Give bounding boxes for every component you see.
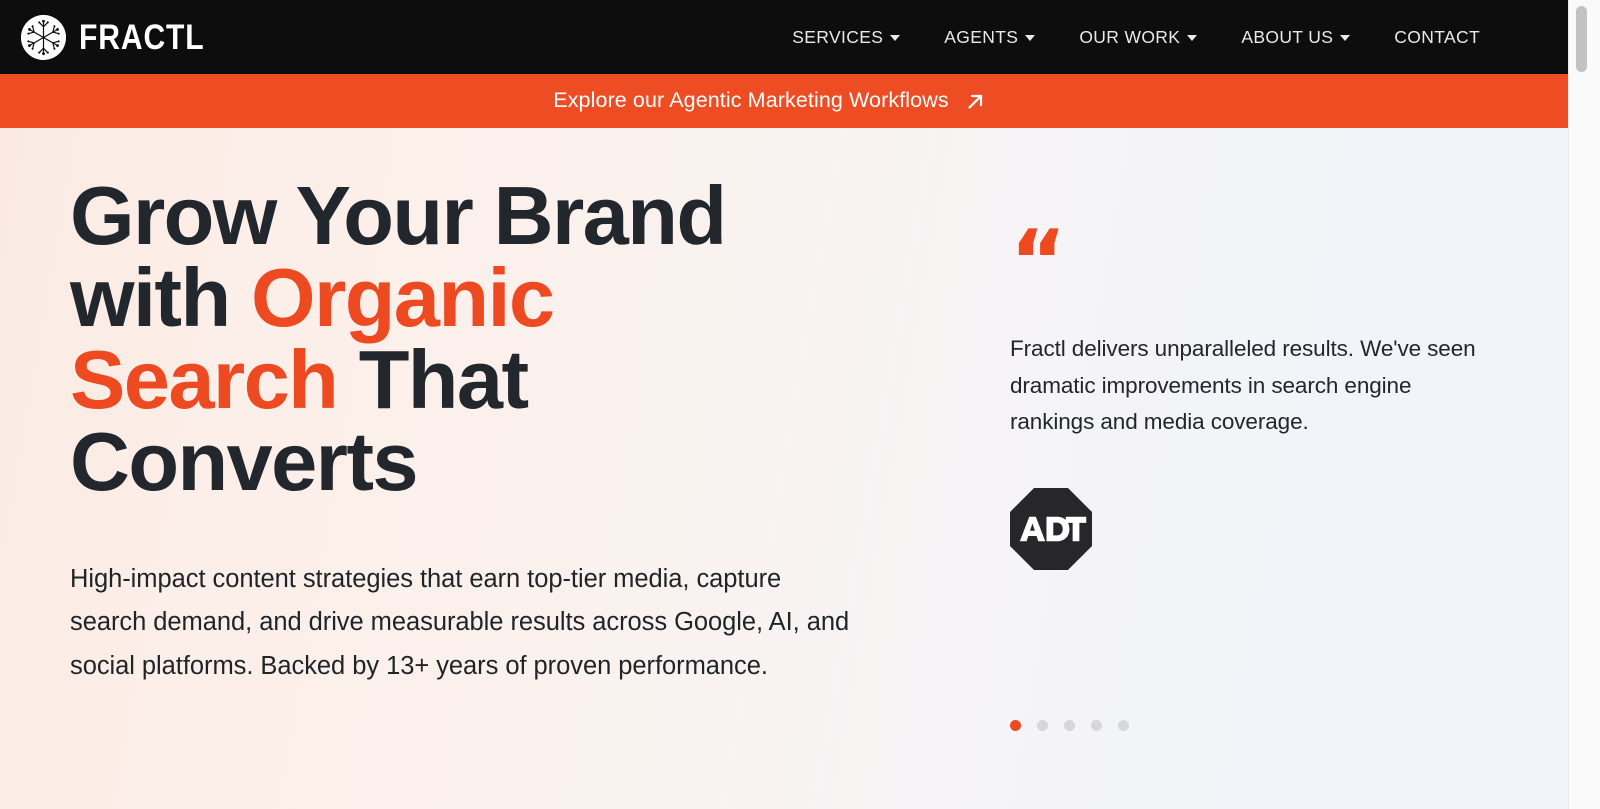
page-content: FRACTL SERVICES AGENTS OUR WORK: [0, 0, 1568, 809]
nav-item-contact[interactable]: CONTACT: [1372, 21, 1502, 54]
nav-item-label: ABOUT US: [1241, 27, 1333, 48]
testimonial-carousel: “ Fractl delivers unparalleled results. …: [900, 175, 1568, 570]
hero-subheading: High-impact content strategies that earn…: [70, 558, 860, 690]
chevron-down-icon: [1187, 35, 1197, 41]
hero-copy-column: Grow Your Brand with Organic Search That…: [0, 175, 900, 689]
primary-navigation: SERVICES AGENTS OUR WORK ABOUT US: [770, 21, 1502, 54]
announcement-banner-inner: Explore our Agentic Marketing Workflows: [553, 90, 984, 112]
announcement-banner[interactable]: Explore our Agentic Marketing Workflows: [0, 74, 1568, 128]
adt-octagon-logo: [1010, 488, 1092, 570]
carousel-dot-5[interactable]: [1118, 720, 1129, 731]
site-header: FRACTL SERVICES AGENTS OUR WORK: [0, 0, 1568, 74]
announcement-banner-label: Explore our Agentic Marketing Workflows: [553, 90, 948, 112]
carousel-dot-2[interactable]: [1037, 720, 1048, 731]
page-title: Grow Your Brand with Organic Search That…: [70, 175, 770, 504]
arrow-up-right-icon: [966, 92, 985, 111]
brand-logo-link[interactable]: FRACTL: [21, 15, 225, 60]
chevron-down-icon: [1025, 35, 1035, 41]
chevron-down-icon: [1340, 35, 1350, 41]
carousel-dot-3[interactable]: [1064, 720, 1075, 731]
nav-list: SERVICES AGENTS OUR WORK ABOUT US: [770, 21, 1502, 54]
hero-section: Grow Your Brand with Organic Search That…: [0, 128, 1568, 809]
nav-item-label: AGENTS: [944, 27, 1018, 48]
nav-item-agents[interactable]: AGENTS: [922, 21, 1057, 54]
quote-mark-icon: “: [1010, 239, 1568, 287]
nav-item-about-us[interactable]: ABOUT US: [1219, 21, 1372, 54]
nav-item-label: OUR WORK: [1079, 27, 1180, 48]
fractal-snowflake-icon: [21, 15, 66, 60]
brand-wordmark: FRACTL: [79, 20, 205, 55]
nav-item-label: SERVICES: [792, 27, 883, 48]
browser-viewport: FRACTL SERVICES AGENTS OUR WORK: [0, 0, 1600, 809]
carousel-dot-1[interactable]: [1010, 720, 1021, 731]
carousel-dots: [1010, 720, 1129, 731]
carousel-dot-4[interactable]: [1091, 720, 1102, 731]
page-scrollbar[interactable]: [1568, 0, 1600, 809]
nav-item-label: CONTACT: [1394, 27, 1480, 48]
nav-item-our-work[interactable]: OUR WORK: [1057, 21, 1219, 54]
scrollbar-thumb[interactable]: [1576, 6, 1587, 72]
chevron-down-icon: [890, 35, 900, 41]
testimonial-quote: Fractl delivers unparalleled results. We…: [1010, 331, 1480, 441]
nav-item-services[interactable]: SERVICES: [770, 21, 922, 54]
